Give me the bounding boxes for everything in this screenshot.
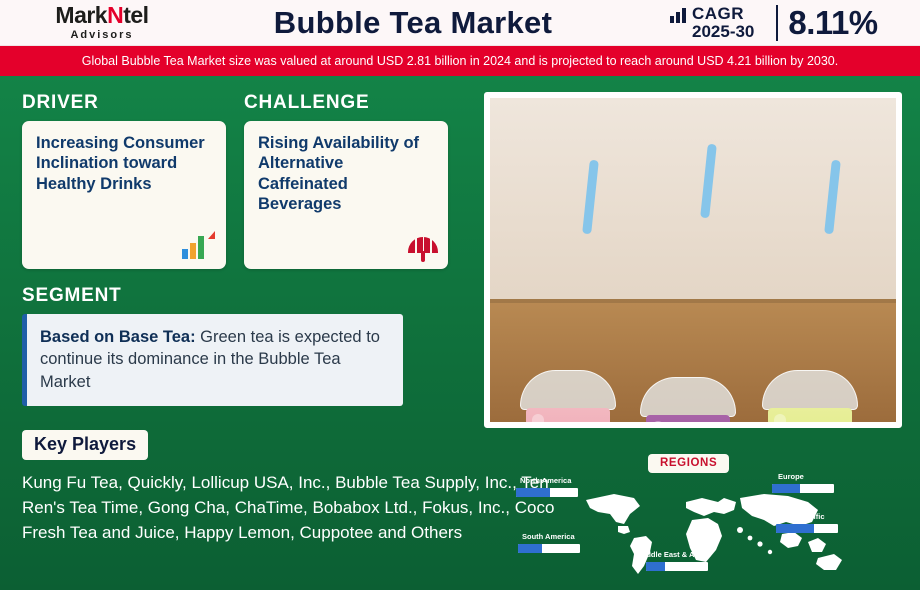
driver-heading: DRIVER (22, 92, 226, 114)
page-title: Bubble Tea Market (186, 5, 670, 41)
segment-heading: SEGMENT (22, 285, 452, 307)
cup-gloss-2 (652, 421, 664, 428)
region-label-middle-east-africa: Middle East & Africa (638, 550, 710, 559)
header: MarkNtel Advisors Bubble Tea Market CAGR… (0, 0, 920, 46)
cup-lid-1 (520, 370, 616, 410)
cagr-label: CAGR (692, 5, 754, 23)
driver-challenge-row: DRIVER Increasing Consumer Inclination t… (22, 92, 452, 269)
regions-badge: REGIONS (648, 454, 729, 473)
driver-block: DRIVER Increasing Consumer Inclination t… (22, 92, 226, 269)
logo-part-tel: tel (123, 2, 148, 28)
logo-subtitle: Advisors (70, 29, 133, 41)
challenge-card-text: Rising Availability of Alternative Caffe… (258, 133, 434, 215)
segment-label: Based on Base Tea: (40, 328, 196, 346)
region-label-asia-pacific: Asia-Pacific (782, 512, 825, 521)
logo-part-mark: Mark (55, 2, 107, 28)
driver-card-text: Increasing Consumer Inclination toward H… (36, 133, 212, 194)
bar-chart-icon (670, 8, 687, 23)
region-bar-north-america (516, 488, 578, 497)
infographic-page: MarkNtel Advisors Bubble Tea Market CAGR… (0, 0, 920, 590)
cagr-text-group: CAGR 2025-30 (692, 5, 754, 41)
logo-part-n: N (107, 2, 123, 28)
bubble-tea-cups-photo (484, 92, 902, 428)
cagr-value: 8.11% (788, 4, 877, 42)
challenge-heading: CHALLENGE (244, 92, 448, 114)
cup-body-2 (646, 415, 730, 428)
segment-card-text: Based on Base Tea: Green tea is expected… (40, 326, 389, 393)
segment-block: SEGMENT Based on Base Tea: Green tea is … (22, 285, 452, 406)
region-label-europe: Europe (778, 472, 804, 481)
cup-body-3 (768, 408, 852, 428)
left-column: DRIVER Increasing Consumer Inclination t… (0, 76, 470, 590)
cup-gloss-3 (774, 414, 786, 428)
segment-card[interactable]: Based on Base Tea: Green tea is expected… (22, 314, 403, 406)
region-bar-middle-east-africa (646, 562, 708, 571)
key-players-heading: Key Players (22, 430, 148, 460)
cagr-block: CAGR 2025-30 8.11% (670, 0, 920, 46)
challenge-card[interactable]: Rising Availability of Alternative Caffe… (244, 121, 448, 269)
cup-body-1 (526, 408, 610, 428)
cup-gloss-1 (532, 414, 544, 428)
logo-wordmark: MarkNtel (55, 4, 148, 27)
regions-block: REGIONS (510, 454, 910, 584)
region-bar-south-america (518, 544, 580, 553)
challenge-block: CHALLENGE Rising Availability of Alterna… (244, 92, 448, 269)
brand-logo[interactable]: MarkNtel Advisors (0, 0, 186, 46)
region-label-north-america: North America (520, 476, 571, 485)
right-column: REGIONS (470, 76, 920, 590)
region-bar-europe (772, 484, 834, 493)
driver-card[interactable]: Increasing Consumer Inclination toward H… (22, 121, 226, 269)
cup-lid-3 (762, 370, 858, 410)
region-bar-asia-pacific (776, 524, 838, 533)
region-label-south-america: South America (522, 532, 575, 541)
coffee-cup-icon (408, 233, 438, 263)
body: DRIVER Increasing Consumer Inclination t… (0, 76, 920, 590)
growth-chart-icon (180, 231, 214, 261)
market-size-banner: Global Bubble Tea Market size was valued… (0, 46, 920, 76)
cagr-years: 2025-30 (692, 23, 754, 41)
cagr-left: CAGR 2025-30 (670, 5, 766, 41)
cagr-divider (776, 5, 778, 41)
